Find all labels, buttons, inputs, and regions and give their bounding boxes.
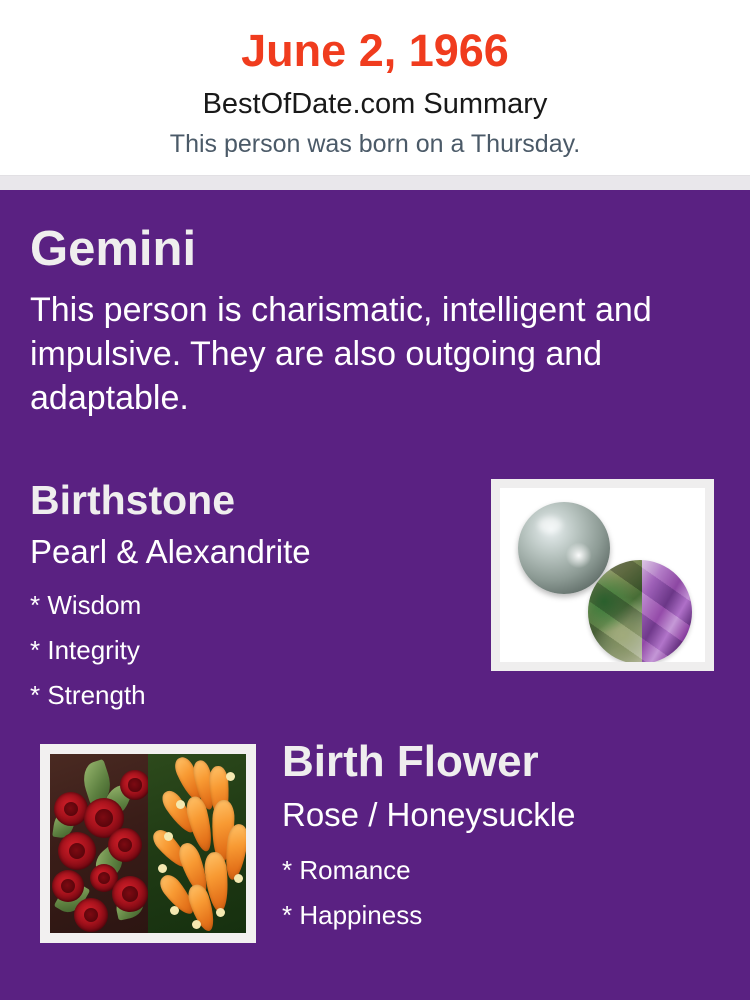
birth-flower-names: Rose / Honeysuckle xyxy=(282,795,575,835)
roses-photo-half xyxy=(50,754,148,933)
birthstone-names: Pearl & Alexandrite xyxy=(30,532,311,572)
honeysuckle-photo-half xyxy=(148,754,246,933)
list-item: * Romance xyxy=(282,848,702,893)
list-item: * Strength xyxy=(30,673,450,718)
zodiac-sign-title: Gemini xyxy=(30,219,196,279)
list-item: * Integrity xyxy=(30,628,450,673)
gem-facet-overlay xyxy=(588,560,692,662)
birthstone-heading: Birthstone xyxy=(30,475,235,525)
site-summary-subtitle: BestOfDate.com Summary xyxy=(0,86,750,122)
zodiac-description: This person is charismatic, intelligent … xyxy=(30,288,702,420)
birthstone-traits-list: * Wisdom * Integrity * Strength xyxy=(30,583,450,718)
birth-flower-heading: Birth Flower xyxy=(282,735,539,789)
details-panel: Gemini This person is charismatic, intel… xyxy=(0,190,750,1000)
header-divider xyxy=(0,175,750,191)
birth-date-title: June 2, 1966 xyxy=(0,22,750,80)
weekday-note: This person was born on a Thursday. xyxy=(0,128,750,160)
birth-flower-image xyxy=(50,754,246,933)
birth-flower-image-frame xyxy=(40,744,256,943)
birthstone-image xyxy=(500,488,705,662)
alexandrite-gem-icon xyxy=(588,560,692,662)
list-item: * Happiness xyxy=(282,893,702,938)
header-section: June 2, 1966 BestOfDate.com Summary This… xyxy=(0,0,750,175)
infographic-card: June 2, 1966 BestOfDate.com Summary This… xyxy=(0,0,750,1000)
birth-flower-traits-list: * Romance * Happiness xyxy=(282,848,702,938)
birthstone-image-frame xyxy=(491,479,714,671)
list-item: * Wisdom xyxy=(30,583,450,628)
